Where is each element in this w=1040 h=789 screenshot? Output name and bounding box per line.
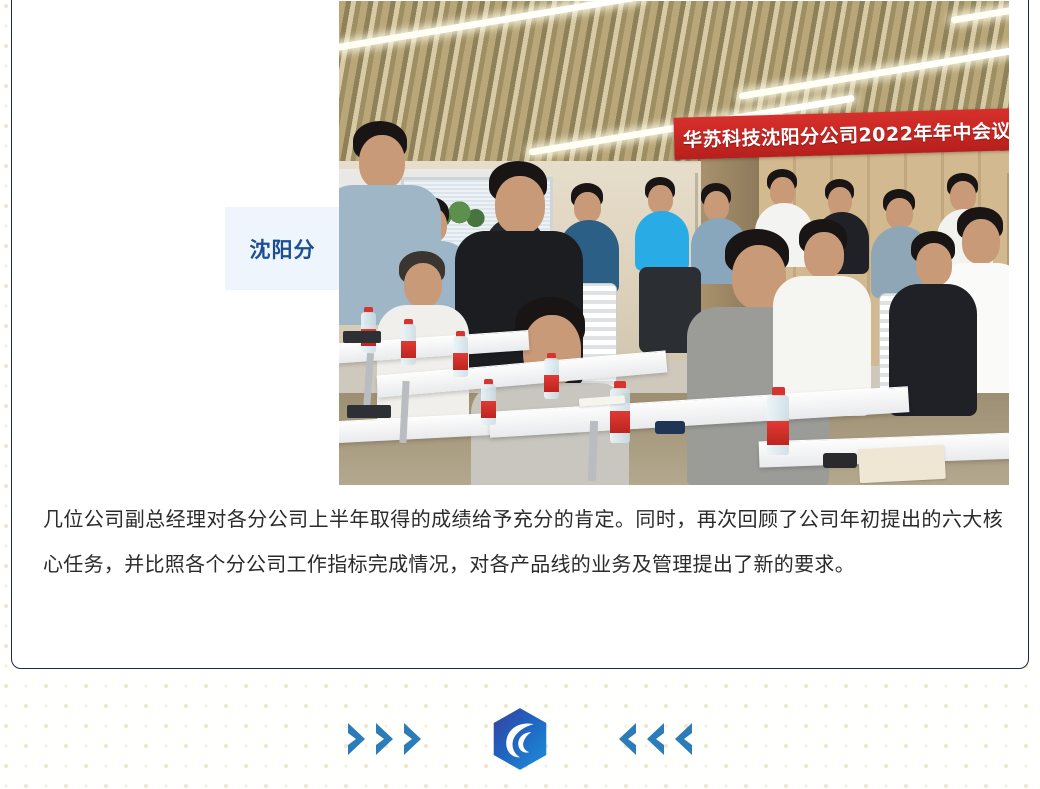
laptop	[343, 331, 381, 343]
water-bottle	[401, 319, 416, 365]
article-caption: 几位公司副总经理对各分公司上半年取得的成绩给予充分的肯定。同时，再次回顾了公司年…	[43, 497, 1003, 587]
water-bottle	[544, 353, 559, 399]
notebook	[858, 445, 946, 483]
water-bottle	[481, 379, 496, 425]
media-block: 沈阳分	[12, 0, 1028, 497]
water-bottle	[767, 387, 789, 455]
meeting-banner-text: 华苏科技沈阳分公司2022年年中会议	[674, 116, 1009, 152]
article-card: 沈阳分	[11, 0, 1029, 669]
smartphone	[823, 453, 857, 468]
water-bottle	[361, 307, 376, 353]
water-bottle	[610, 381, 630, 443]
hexagon-swirl-logo-icon	[491, 707, 549, 771]
water-bottle	[453, 331, 468, 377]
footer-decoration	[0, 688, 1040, 789]
branch-label-text: 沈阳分	[250, 234, 316, 264]
branch-label-badge: 沈阳分	[225, 207, 340, 290]
chevron-left-triple-icon	[613, 721, 695, 757]
smartphone	[655, 421, 685, 434]
meeting-room-photo: 华苏科技沈阳分公司2022年年中会议	[339, 1, 1009, 485]
laptop	[347, 405, 391, 418]
chevron-right-triple-icon	[345, 721, 427, 757]
